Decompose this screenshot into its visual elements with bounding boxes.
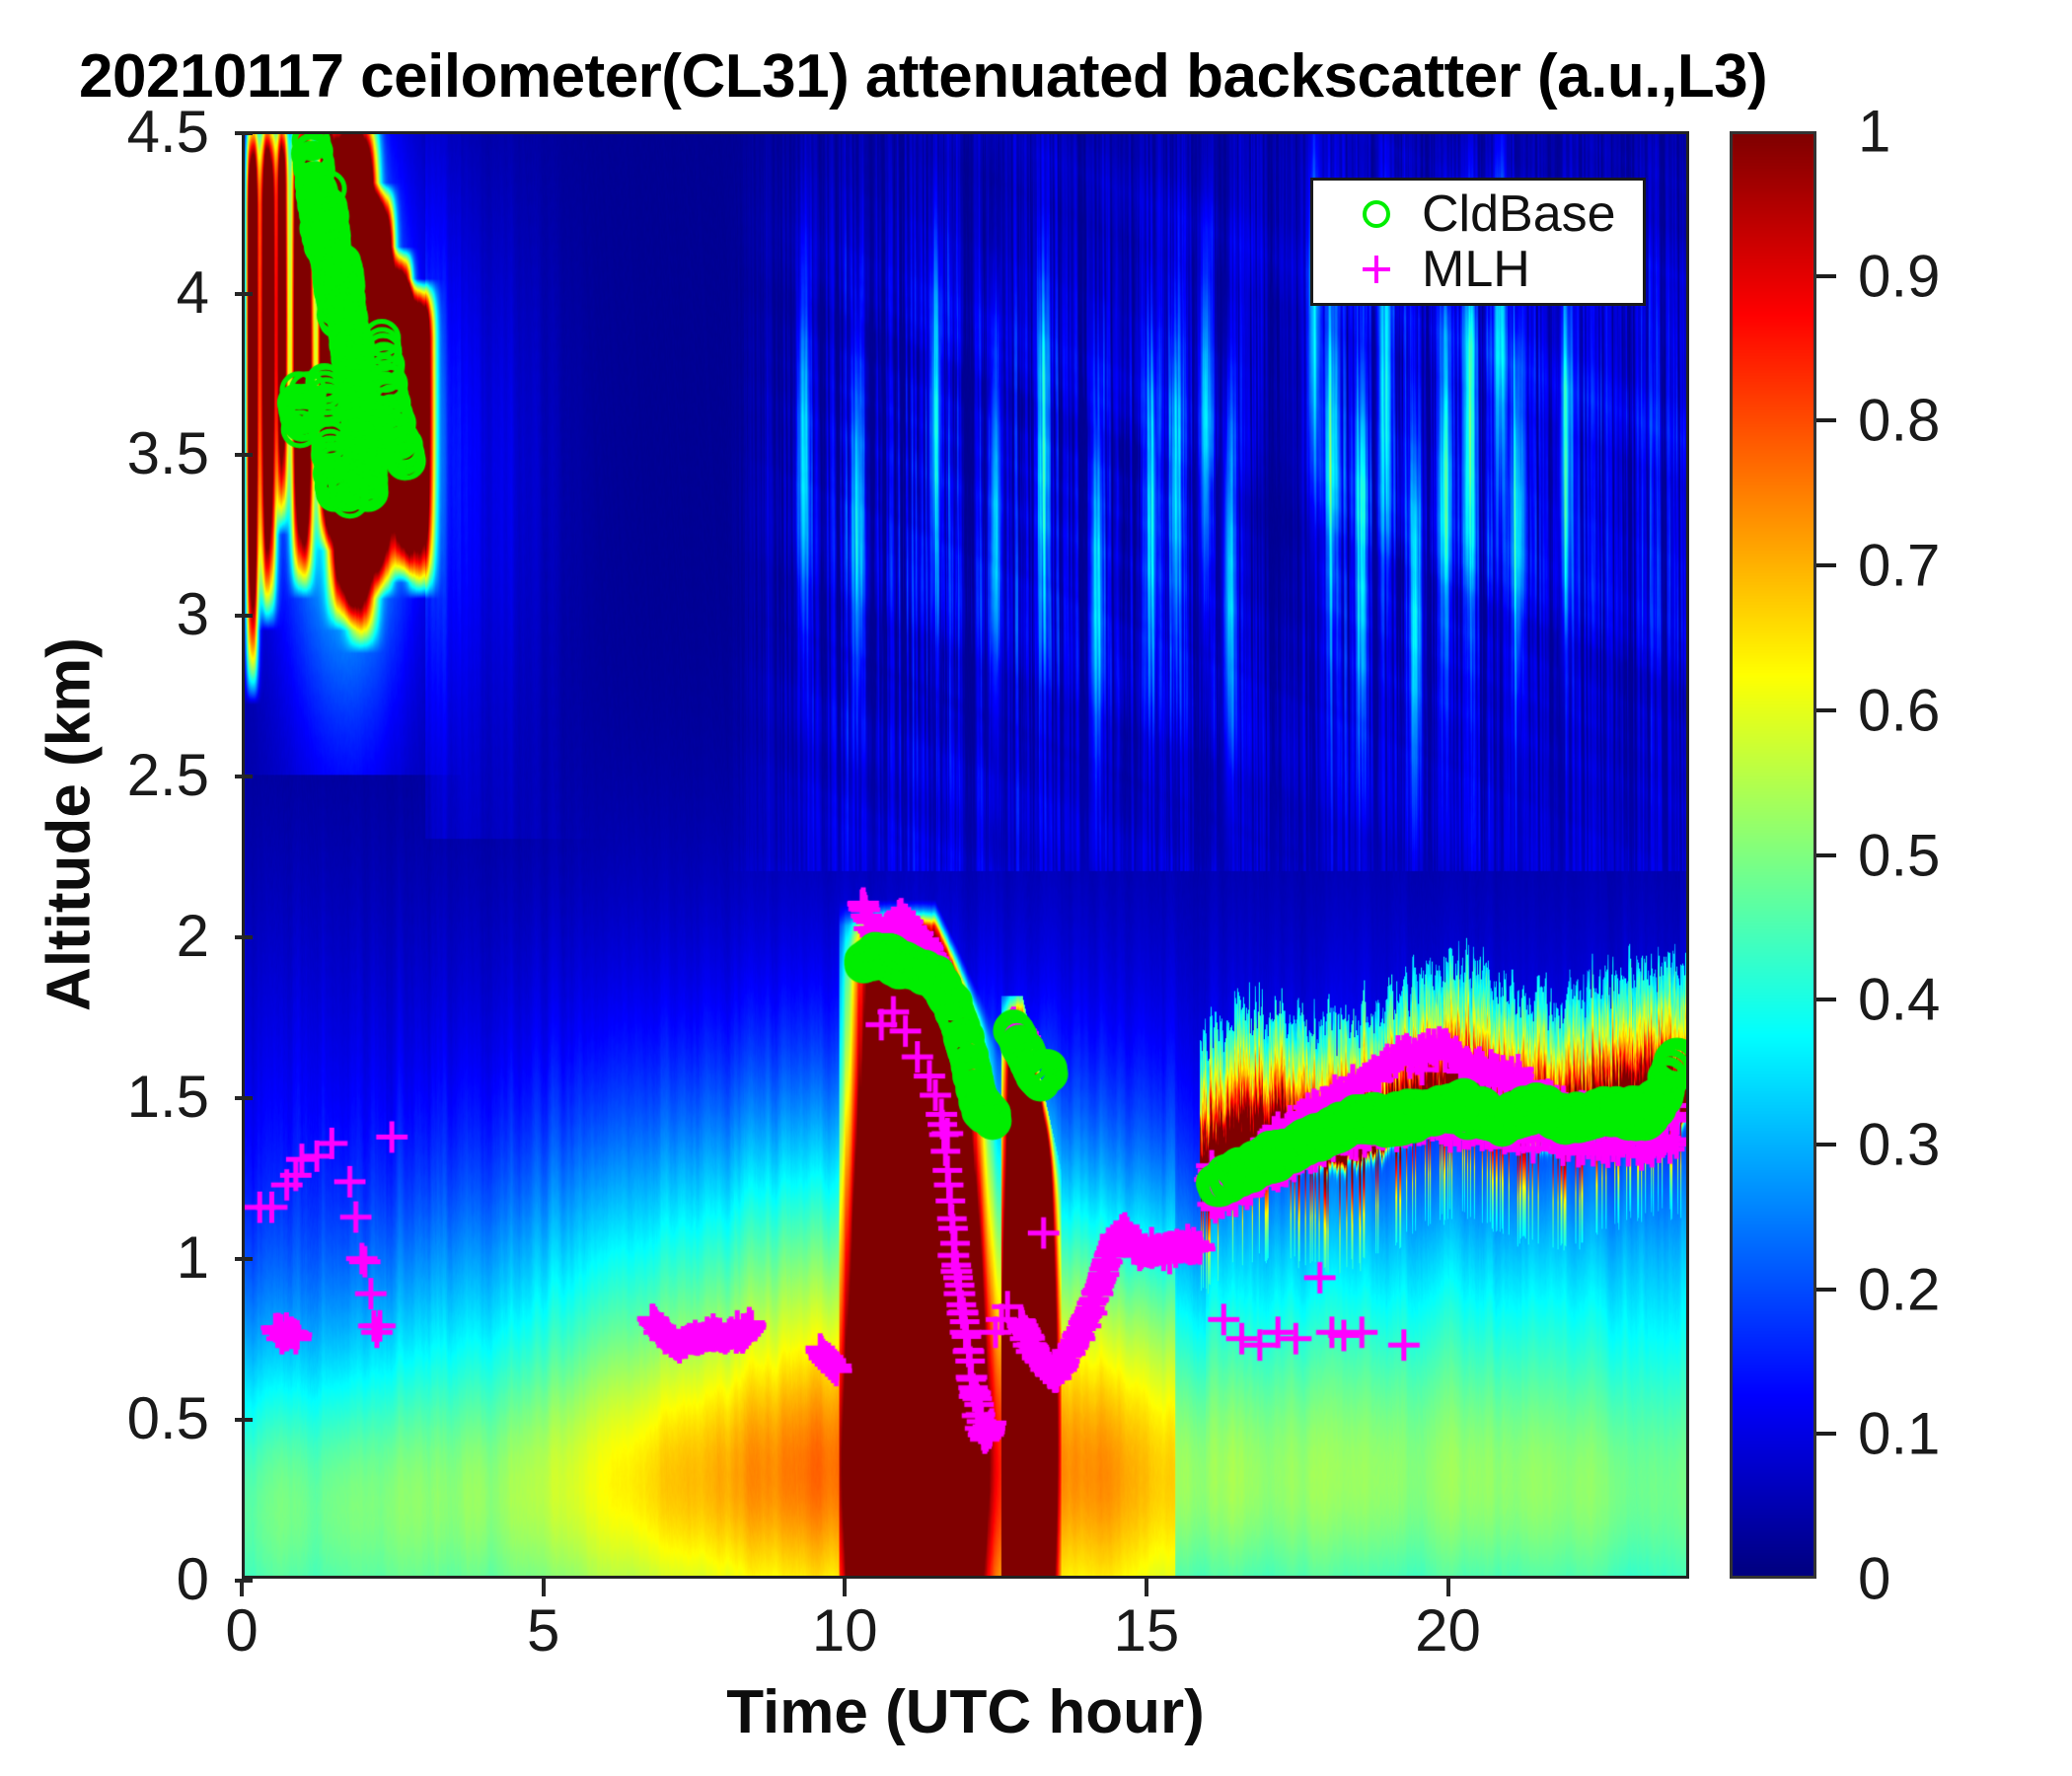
legend-item-cldbase: CldBase	[1313, 186, 1643, 242]
colorbar-tick-mark	[1816, 853, 1836, 857]
colorbar-tick-label-0.3: 0.3	[1858, 1110, 1940, 1178]
y-tick-mark	[235, 292, 253, 296]
colorbar-tick-mark	[1816, 708, 1836, 712]
y-tick-mark	[235, 453, 253, 457]
legend: CldBase MLH	[1310, 178, 1646, 306]
x-tick-label-0: 0	[225, 1596, 258, 1665]
y-tick-mark	[235, 614, 253, 618]
colorbar-tick-label-0.4: 0.4	[1858, 966, 1940, 1034]
x-axis-label: Time (UTC hour)	[242, 1677, 1689, 1747]
colorbar-gradient	[1733, 134, 1813, 1576]
colorbar-tick-label-0: 0	[1858, 1545, 1890, 1613]
colorbar-tick-label-0.2: 0.2	[1858, 1255, 1940, 1323]
x-tick-label-10: 10	[812, 1596, 878, 1665]
colorbar-tick-mark	[1816, 1143, 1836, 1147]
colorbar-tick-mark	[1816, 998, 1836, 1001]
x-tick-mark	[1145, 1579, 1148, 1596]
colorbar	[1730, 131, 1816, 1579]
heatmap-plot-area	[242, 131, 1689, 1579]
y-tick-label: 3.5	[127, 419, 209, 487]
colorbar-tick-mark	[1816, 1432, 1836, 1436]
colorbar-tick-mark	[1816, 274, 1836, 278]
y-tick-mark	[235, 1096, 253, 1100]
y-axis-label: Altitude (km)	[35, 233, 105, 1417]
y-tick-mark	[235, 1257, 253, 1261]
circle-marker-icon	[1331, 194, 1422, 234]
y-tick-label: 2	[177, 902, 209, 970]
y-tick-mark	[235, 775, 253, 778]
colorbar-tick-mark	[1816, 563, 1836, 567]
x-tick-label-5: 5	[527, 1596, 559, 1665]
legend-label-mlh: MLH	[1422, 240, 1530, 299]
colorbar-tick-label-0.8: 0.8	[1858, 387, 1940, 455]
y-tick-label: 1.5	[127, 1063, 209, 1131]
x-tick-mark	[240, 1579, 244, 1596]
figure-root: 20210117 ceilometer(CL31) attenuated bac…	[0, 0, 2072, 1776]
legend-label-cldbase: CldBase	[1422, 185, 1616, 244]
marker-overlay	[245, 134, 1686, 1576]
y-tick-label: 2.5	[127, 741, 209, 809]
plus-marker-icon	[1331, 250, 1422, 289]
y-tick-mark	[235, 1418, 253, 1422]
x-tick-mark	[843, 1579, 847, 1596]
colorbar-tick-label-0.7: 0.7	[1858, 532, 1940, 600]
y-tick-mark	[235, 131, 253, 135]
colorbar-tick-mark	[1816, 1288, 1836, 1292]
legend-item-mlh: MLH	[1313, 242, 1643, 297]
colorbar-tick-mark	[1816, 418, 1836, 422]
colorbar-tick-label-0.6: 0.6	[1858, 676, 1940, 744]
x-tick-label-15: 15	[1114, 1596, 1180, 1665]
page-title: 20210117 ceilometer(CL31) attenuated bac…	[79, 41, 1954, 111]
y-tick-label: 0	[177, 1545, 209, 1613]
colorbar-tick-label-0.1: 0.1	[1858, 1400, 1940, 1468]
colorbar-tick-label-0.9: 0.9	[1858, 242, 1940, 310]
y-tick-mark	[235, 1579, 253, 1583]
y-tick-label: 4	[177, 259, 209, 327]
y-tick-label: 3	[177, 580, 209, 648]
y-tick-label: 4.5	[127, 98, 209, 166]
y-tick-label: 1	[177, 1223, 209, 1292]
x-tick-mark	[542, 1579, 546, 1596]
colorbar-tick-label-0.5: 0.5	[1858, 821, 1940, 889]
x-tick-mark	[1446, 1579, 1450, 1596]
x-tick-label-20: 20	[1415, 1596, 1481, 1665]
y-tick-mark	[235, 935, 253, 939]
colorbar-tick-label-1: 1	[1858, 98, 1890, 166]
y-tick-label: 0.5	[127, 1384, 209, 1452]
